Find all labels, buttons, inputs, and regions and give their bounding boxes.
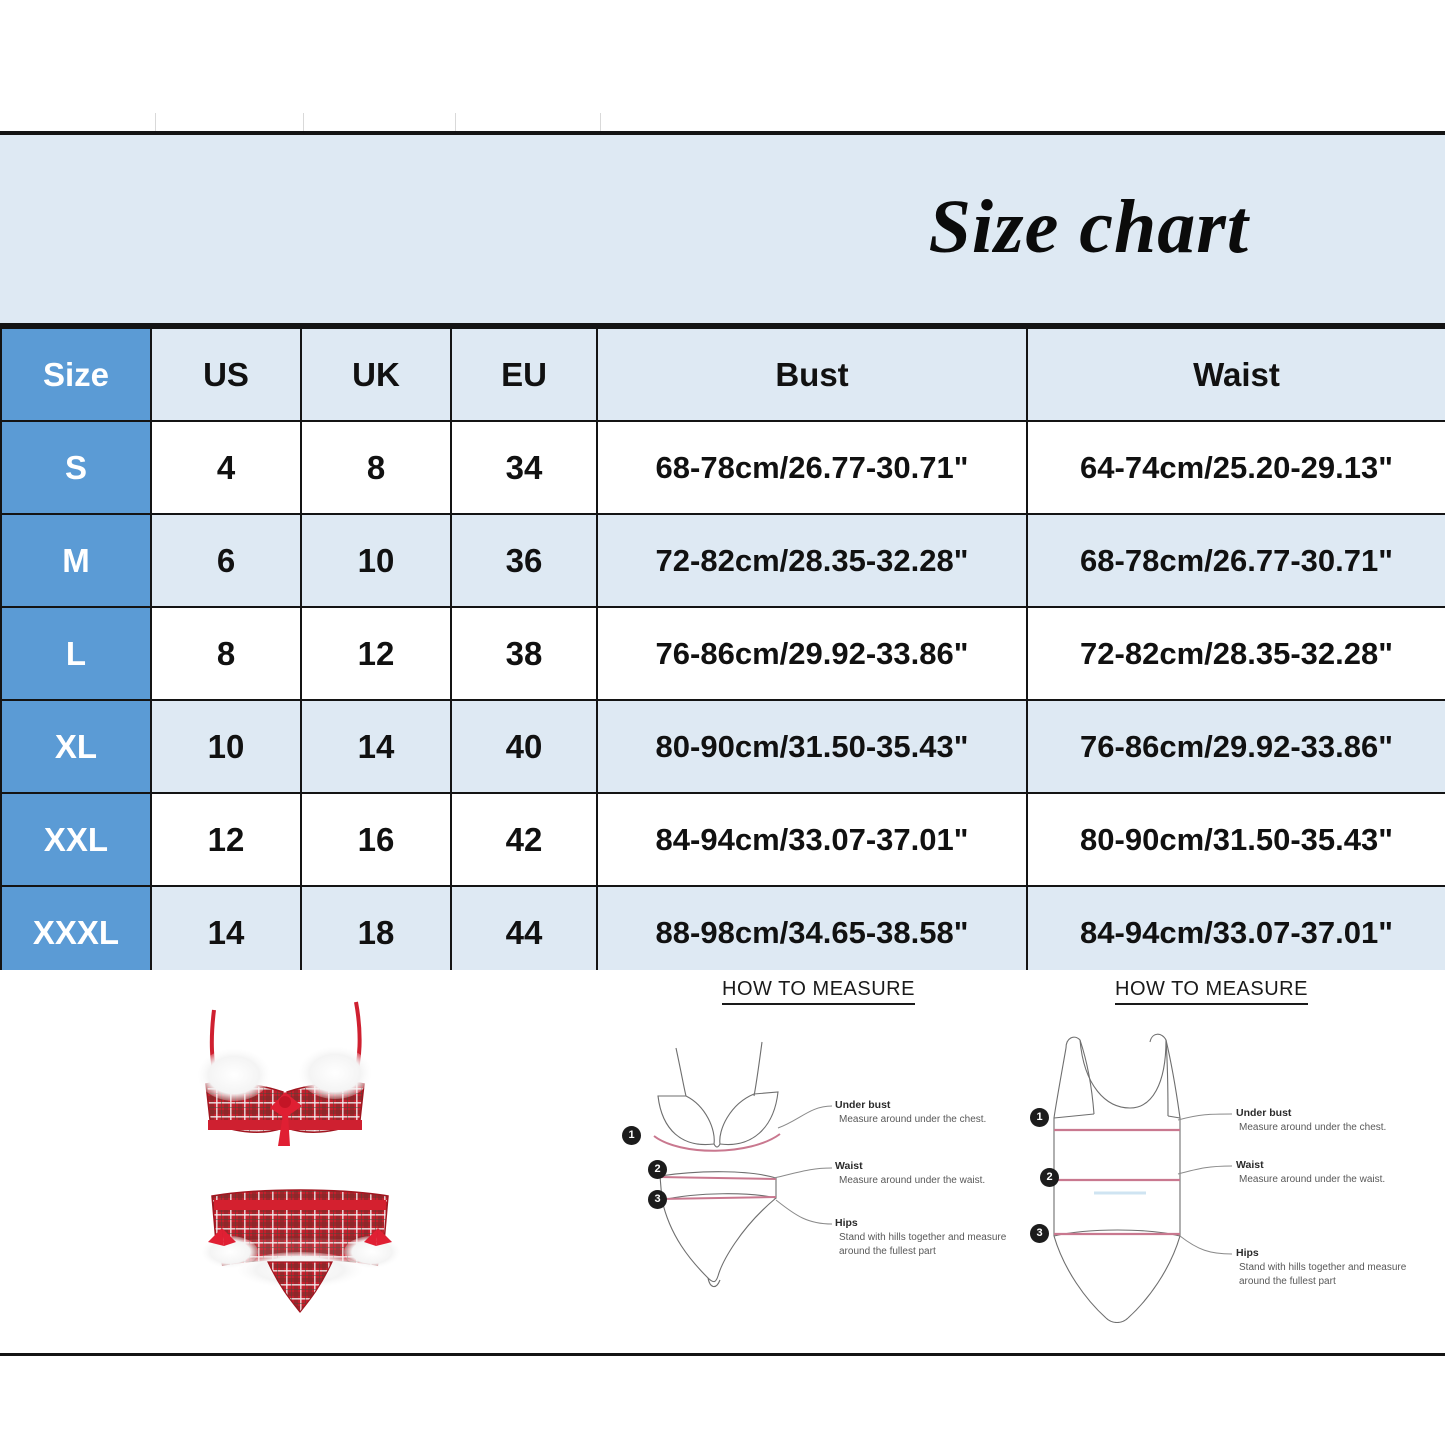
cell-uk: 14: [301, 700, 451, 793]
cell-eu: 40: [451, 700, 597, 793]
cell-us: 10: [151, 700, 301, 793]
cell-us: 8: [151, 607, 301, 700]
table-row: S 4 8 34 68-78cm/26.77-30.71" 64-74cm/25…: [1, 421, 1445, 514]
cell-bust: 84-94cm/33.07-37.01": [597, 793, 1027, 886]
label-hips: Hips: [835, 1217, 858, 1229]
cell-bust: 68-78cm/26.77-30.71": [597, 421, 1027, 514]
column-header-size: Size: [1, 328, 151, 421]
size-chart-block: Size chart Size US UK EU Bust Waist S 4 …: [0, 131, 1445, 980]
table-row: XL 10 14 40 80-90cm/31.50-35.43" 76-86cm…: [1, 700, 1445, 793]
cell-us: 4: [151, 421, 301, 514]
measure-bullet-1: 1: [622, 1126, 641, 1145]
cell-eu: 36: [451, 514, 597, 607]
cell-us: 12: [151, 793, 301, 886]
cell-eu: 44: [451, 886, 597, 979]
top-gutter: [0, 0, 1445, 131]
column-header-uk: UK: [301, 328, 451, 421]
tick-mark: [303, 113, 304, 131]
column-header-us: US: [151, 328, 301, 421]
cell-waist: 68-78cm/26.77-30.71": [1027, 514, 1445, 607]
desc-waist: Measure around under the waist.: [839, 1175, 985, 1188]
label-waist: Waist: [1236, 1159, 1264, 1171]
desc-hips-line2: around the fullest part: [839, 1246, 936, 1259]
cell-size: XXL: [1, 793, 151, 886]
table-row: XXL 12 16 42 84-94cm/33.07-37.01" 80-90c…: [1, 793, 1445, 886]
table-row: M 6 10 36 72-82cm/28.35-32.28" 68-78cm/2…: [1, 514, 1445, 607]
measure-bullet-2: 2: [648, 1160, 667, 1179]
measure-bullet-3: 3: [648, 1190, 667, 1209]
page-title: Size chart: [929, 184, 1249, 271]
cell-bust: 72-82cm/28.35-32.28": [597, 514, 1027, 607]
desc-under-bust: Measure around under the chest.: [839, 1114, 986, 1127]
cell-uk: 12: [301, 607, 451, 700]
desc-under-bust: Measure around under the chest.: [1239, 1122, 1386, 1135]
tick-mark: [155, 113, 156, 131]
table-row: XXXL 14 18 44 88-98cm/34.65-38.58" 84-94…: [1, 886, 1445, 979]
size-chart-table: Size US UK EU Bust Waist S 4 8 34 68-78c…: [0, 327, 1445, 980]
cell-waist: 72-82cm/28.35-32.28": [1027, 607, 1445, 700]
bottom-divider: [0, 1353, 1445, 1356]
cell-waist: 84-94cm/33.07-37.01": [1027, 886, 1445, 979]
cell-size: M: [1, 514, 151, 607]
desc-hips-line1: Stand with hills together and measure: [1239, 1262, 1406, 1275]
table-header-row: Size US UK EU Bust Waist: [1, 328, 1445, 421]
product-photo: [150, 980, 450, 1320]
label-hips: Hips: [1236, 1247, 1259, 1259]
cell-size: XL: [1, 700, 151, 793]
title-banner: Size chart: [0, 135, 1445, 327]
measure-diagram-right: HOW TO MEASURE: [1010, 978, 1445, 1323]
cell-eu: 42: [451, 793, 597, 886]
tick-mark: [600, 113, 601, 131]
label-under-bust: Under bust: [835, 1099, 890, 1111]
cell-size: S: [1, 421, 151, 514]
cell-waist: 80-90cm/31.50-35.43": [1027, 793, 1445, 886]
cell-eu: 34: [451, 421, 597, 514]
label-under-bust: Under bust: [1236, 1107, 1291, 1119]
tick-mark: [455, 113, 456, 131]
table-row: L 8 12 38 76-86cm/29.92-33.86" 72-82cm/2…: [1, 607, 1445, 700]
measure-bullet-2: 2: [1040, 1168, 1059, 1187]
cell-uk: 10: [301, 514, 451, 607]
illustration-strip: HOW TO MEASURE: [0, 970, 1445, 1355]
cell-us: 14: [151, 886, 301, 979]
cell-uk: 18: [301, 886, 451, 979]
cell-uk: 16: [301, 793, 451, 886]
desc-hips-line2: around the fullest part: [1239, 1276, 1336, 1289]
measure-bullet-1: 1: [1030, 1108, 1049, 1127]
cell-bust: 76-86cm/29.92-33.86": [597, 607, 1027, 700]
column-header-bust: Bust: [597, 328, 1027, 421]
column-header-waist: Waist: [1027, 328, 1445, 421]
label-waist: Waist: [835, 1160, 863, 1172]
measure-diagram-left: HOW TO MEASURE: [610, 978, 1030, 1308]
cell-eu: 38: [451, 607, 597, 700]
column-header-eu: EU: [451, 328, 597, 421]
cell-size: L: [1, 607, 151, 700]
cell-us: 6: [151, 514, 301, 607]
cell-waist: 76-86cm/29.92-33.86": [1027, 700, 1445, 793]
desc-waist: Measure around under the waist.: [1239, 1174, 1385, 1187]
measure-bullet-3: 3: [1030, 1224, 1049, 1243]
cell-bust: 88-98cm/34.65-38.58": [597, 886, 1027, 979]
cell-waist: 64-74cm/25.20-29.13": [1027, 421, 1445, 514]
cell-uk: 8: [301, 421, 451, 514]
desc-hips-line1: Stand with hills together and measure: [839, 1232, 1006, 1245]
cell-size: XXXL: [1, 886, 151, 979]
cell-bust: 80-90cm/31.50-35.43": [597, 700, 1027, 793]
